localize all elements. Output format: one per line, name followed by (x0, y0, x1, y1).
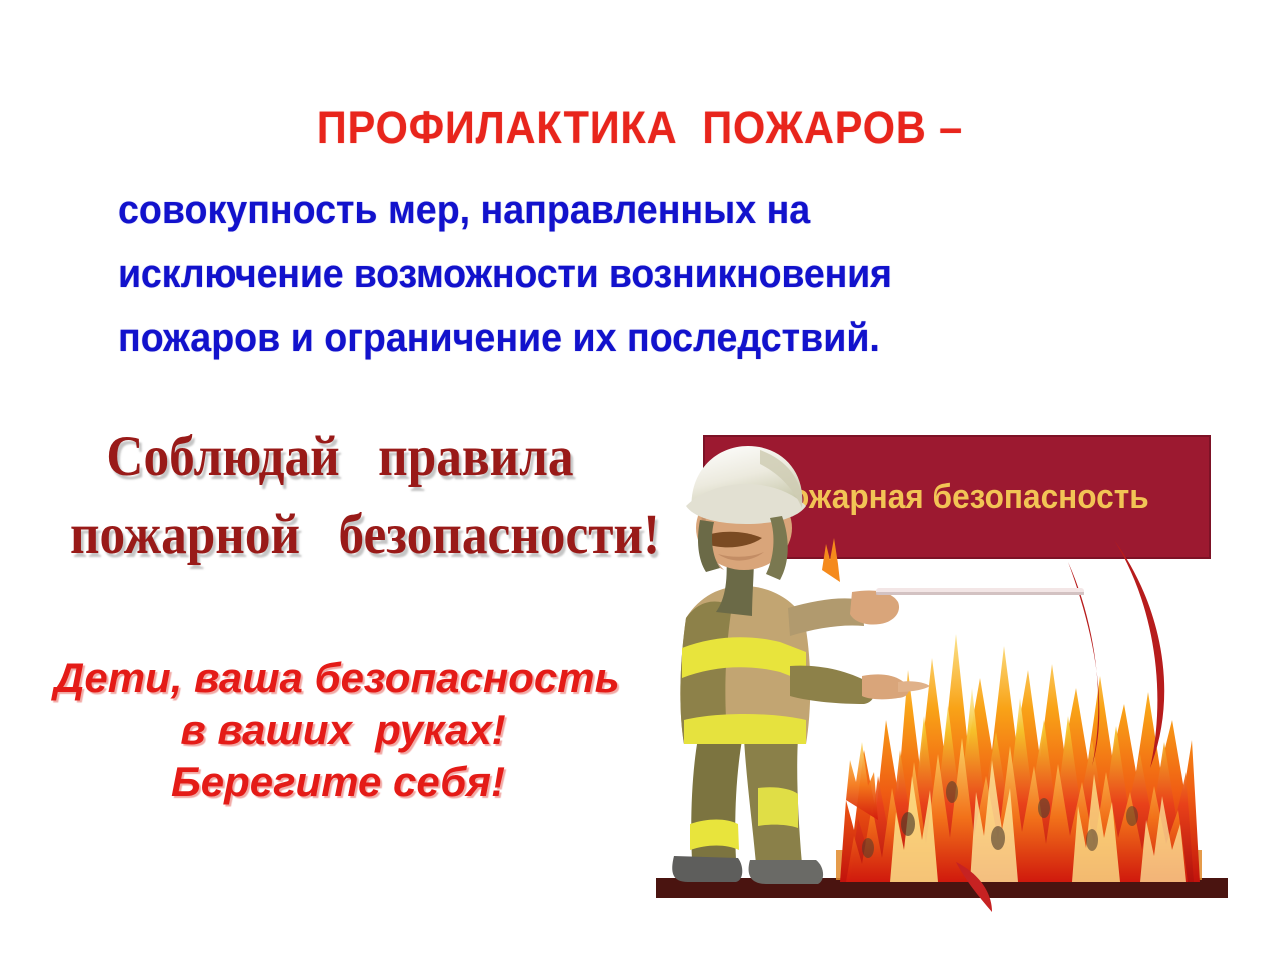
callout-line-2: в ваших руках! (42, 704, 682, 756)
banner-label: Пожарная безопасность (767, 477, 1148, 515)
definition-paragraph: совокупность мер, направленных на исключ… (118, 178, 1129, 370)
firefighter-arm-lower (790, 666, 874, 704)
page-title: ПРОФИЛАКТИКА ПОЖАРОВ – (51, 104, 1229, 152)
definition-line-2: исключение возможности возникновения (118, 242, 1129, 306)
fire-safety-poster: ПРОФИЛАКТИКА ПОЖАРОВ – совокупность мер,… (0, 0, 1280, 960)
slogan-line-2: пожарной безопасности! (70, 496, 610, 574)
firefighter-boot-front (749, 860, 824, 884)
callout-line-1: Дети, ваша безопасность (42, 652, 682, 704)
firefighter-knee-pocket (758, 787, 798, 828)
callout-block: Дети, ваша безопасность в ваших руках! Б… (42, 652, 682, 808)
slogan-block: Соблюдай правила пожарной безопасности! (70, 418, 610, 574)
firefighter-index-finger (898, 681, 930, 692)
pointer-stick (876, 588, 1084, 595)
firefighter-hand-holding (850, 590, 899, 624)
firefighter-leg-stripe (690, 820, 739, 851)
definition-line-3: пожаров и ограничение их последствий. (118, 306, 1129, 370)
headline-block: ПРОФИЛАКТИКА ПОЖАРОВ – (0, 104, 1280, 152)
firefighter-jacket-stripe-lower (684, 714, 806, 744)
firefighter-boot-back (672, 856, 742, 882)
callout-line-3: Берегите себя! (42, 756, 682, 808)
definition-line-1: совокупность мер, направленных на (118, 178, 1129, 242)
slogan-line-1: Соблюдай правила (70, 418, 610, 496)
firefighter-illustration: Пожарная безопасность (640, 420, 1240, 920)
